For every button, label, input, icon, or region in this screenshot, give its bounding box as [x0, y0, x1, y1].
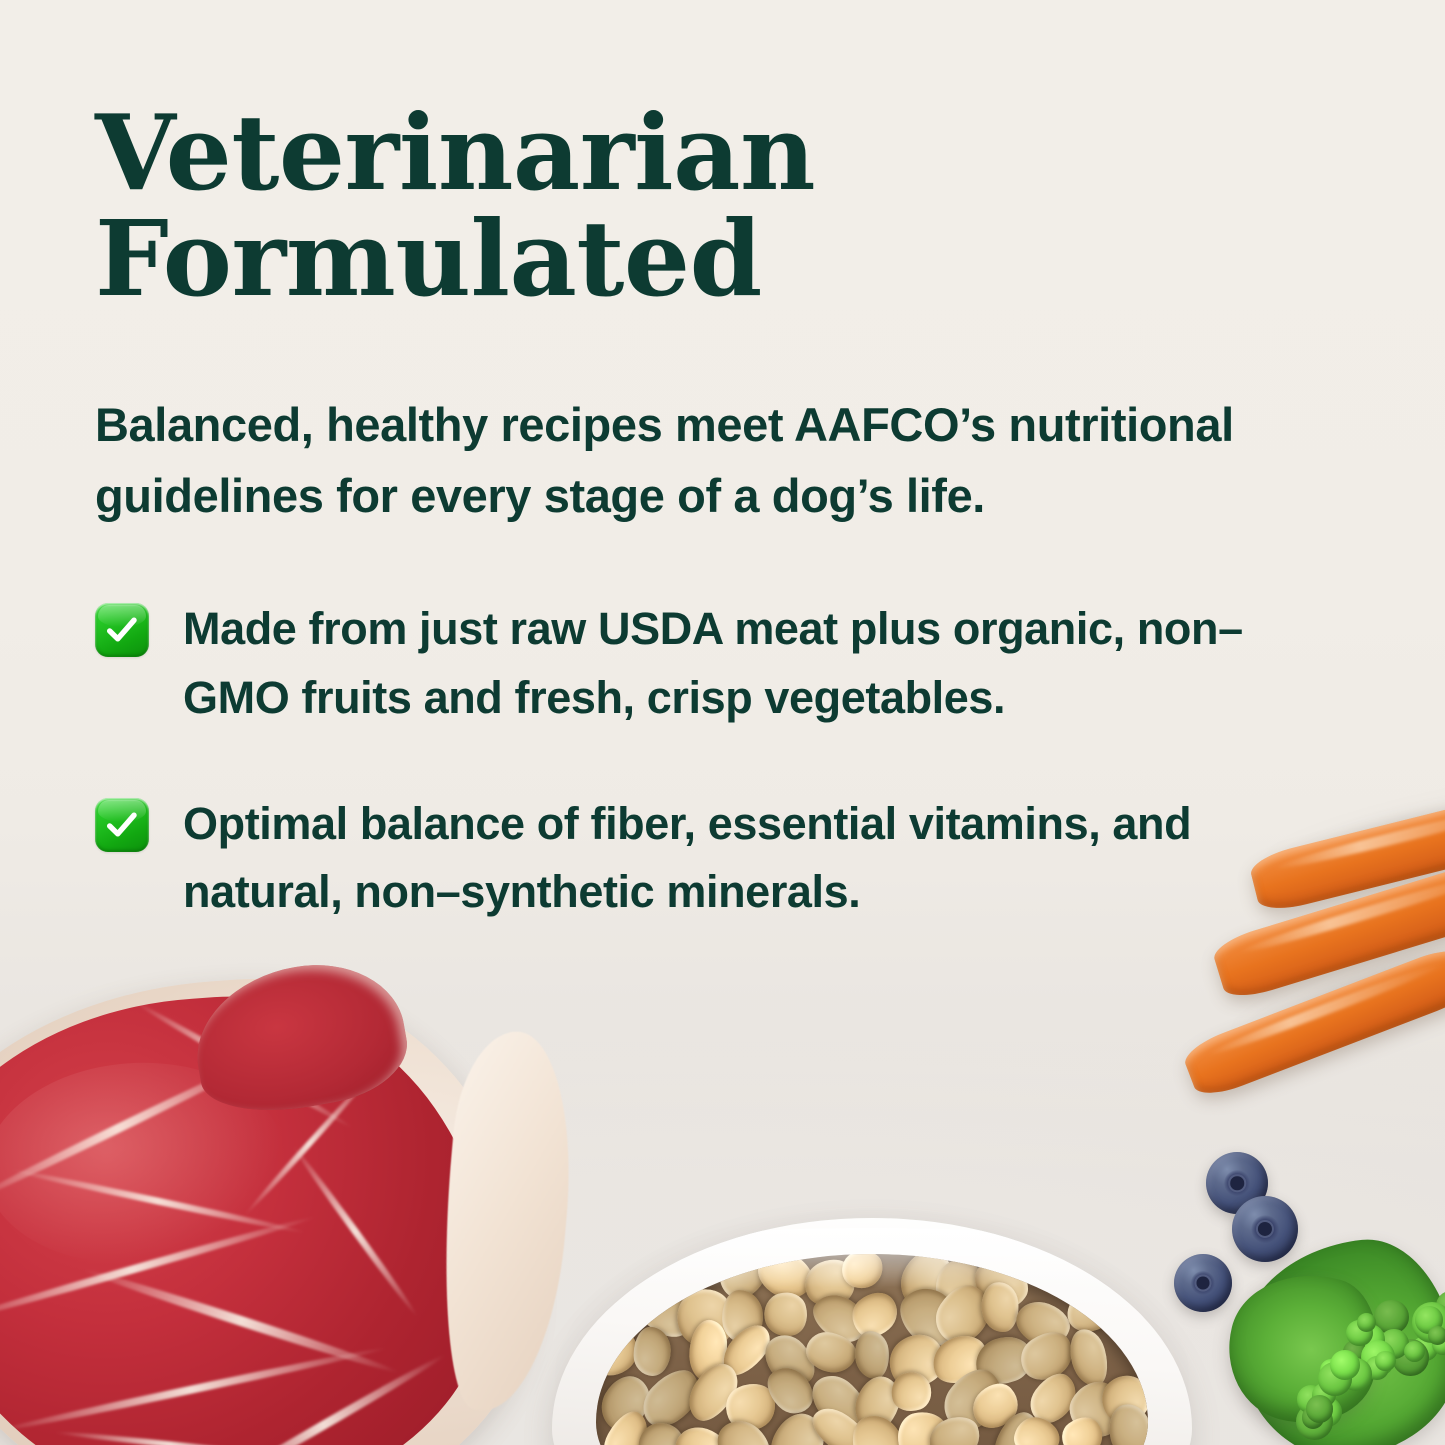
benefits-list: Made from just raw USDA meat plus organi… [95, 595, 1365, 927]
kibble-piece [853, 1330, 892, 1381]
bowl-interior [596, 1254, 1148, 1445]
kibble-bowl-image [552, 1218, 1192, 1445]
kale-ruffle [1428, 1326, 1445, 1345]
page-title: Veterinarian Formulated [95, 100, 885, 312]
subtitle-text: Balanced, healthy recipes meet AAFCO’s n… [95, 390, 1295, 531]
blueberry [1174, 1254, 1232, 1312]
raw-steak-image [0, 958, 589, 1445]
list-item: Made from just raw USDA meat plus organi… [95, 595, 1365, 732]
kale-ruffle [1330, 1350, 1360, 1380]
copy-block: Veterinarian Formulated Balanced, health… [95, 100, 1365, 927]
bowl-ceramic [552, 1218, 1192, 1445]
kale-ruffle [1306, 1395, 1334, 1423]
kale-image [1225, 1227, 1445, 1445]
kale-ruffle [1404, 1341, 1425, 1362]
product-feature-graphic: Veterinarian Formulated Balanced, health… [0, 0, 1445, 1445]
list-item-label: Made from just raw USDA meat plus organi… [183, 595, 1333, 732]
list-item: Optimal balance of fiber, essential vita… [95, 790, 1365, 927]
list-item-label: Optimal balance of fiber, essential vita… [183, 790, 1333, 927]
kale-ruffle [1375, 1351, 1395, 1371]
green-check-badge-icon [95, 603, 149, 657]
green-check-badge-icon [95, 798, 149, 852]
kibble-piece [633, 1327, 671, 1376]
